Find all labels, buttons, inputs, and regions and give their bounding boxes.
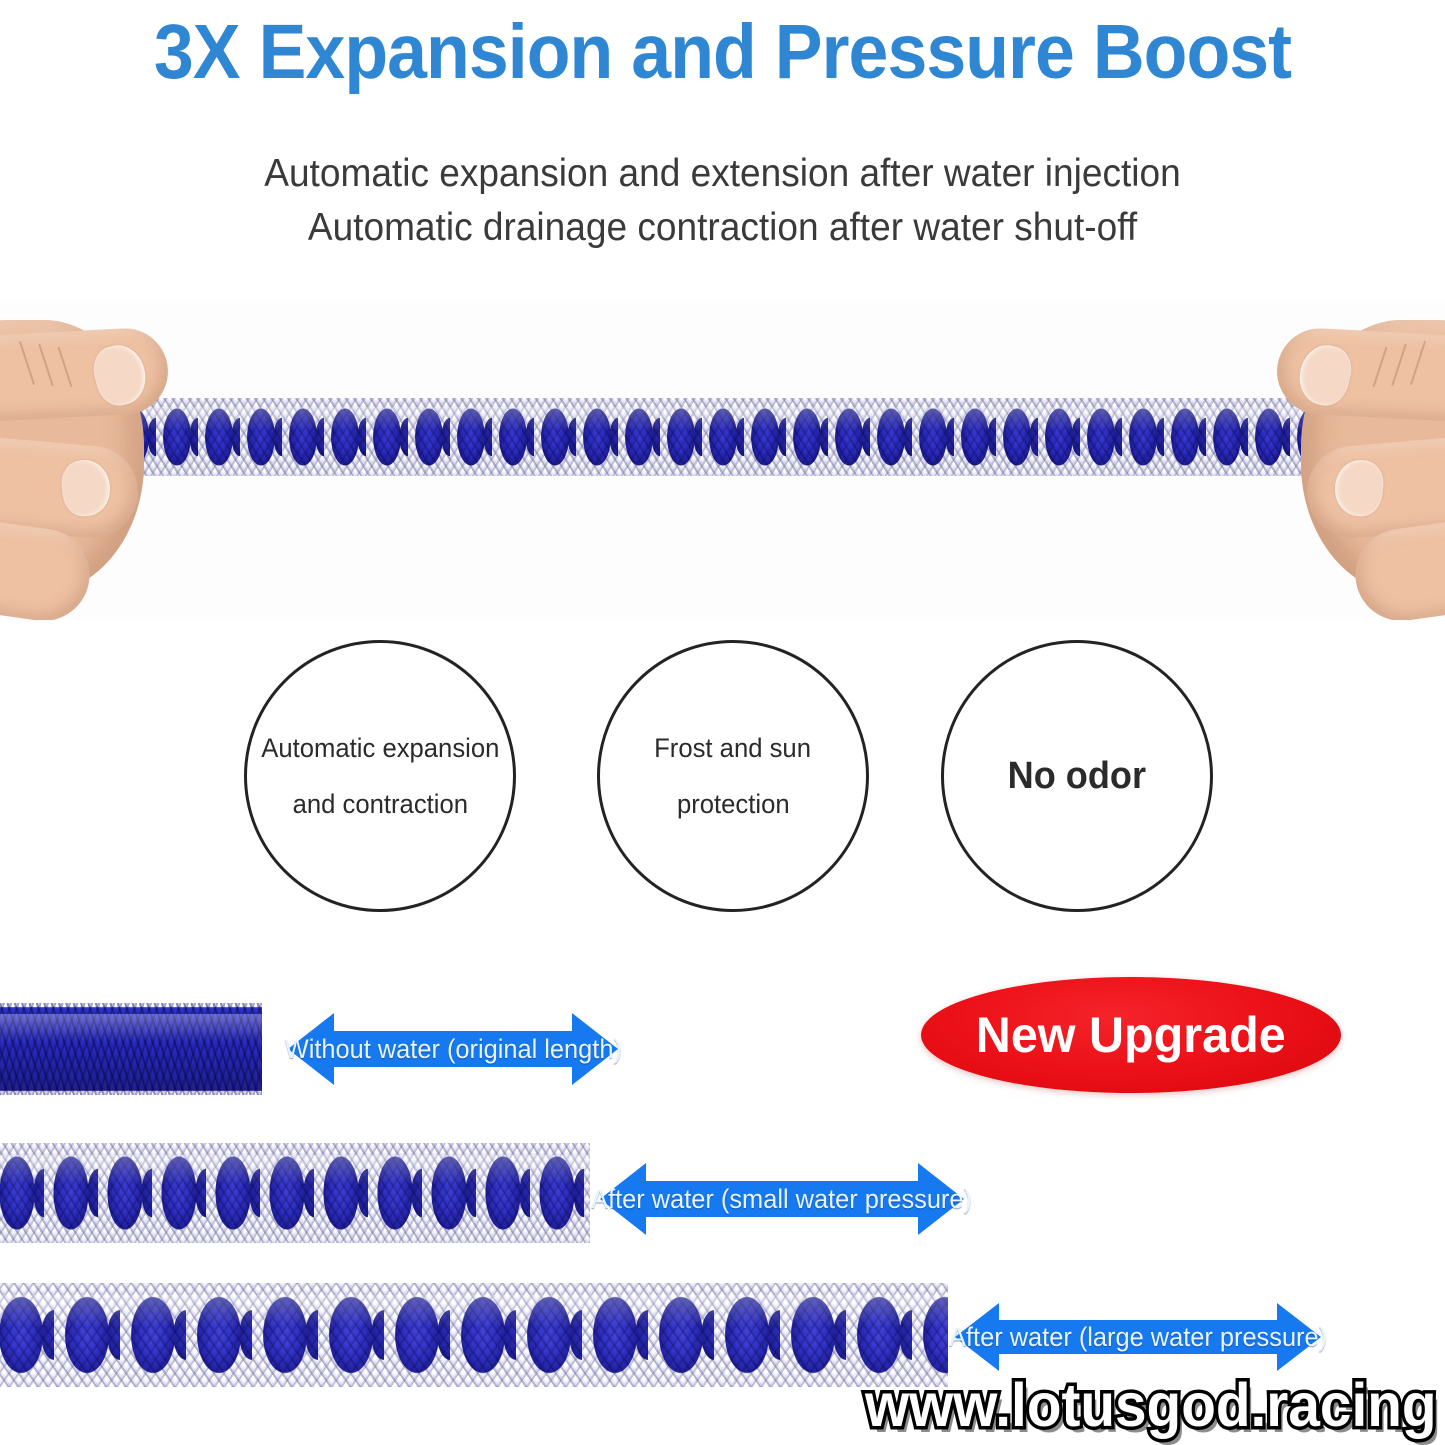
arrow-small-water-pressure-label: After water (small water pressure): [592, 1184, 973, 1215]
page-title: 3X Expansion and Pressure Boost: [51, 8, 1395, 96]
feature-circle-3-line-1: No odor: [1008, 748, 1146, 804]
hose-compressed: [0, 1003, 262, 1095]
subtitle-line-1: Automatic expansion and extension after …: [36, 152, 1409, 196]
right-hand: [1145, 314, 1445, 614]
hose-compressed-weave: [0, 1003, 262, 1095]
feature-circle-1-line-1: Automatic expansion: [261, 720, 499, 776]
hose-small-pressure: [0, 1143, 590, 1243]
arrow-large-water-pressure: After water (large water pressure): [955, 1295, 1321, 1379]
hose-large-pressure-weave: [0, 1283, 948, 1387]
subtitle-line-2: Automatic drainage contraction after wat…: [36, 206, 1409, 250]
arrow-without-water-label: Without water (original length): [284, 1034, 621, 1065]
arrow-without-water: Without water (original length): [288, 1005, 618, 1093]
hero-photo-hands-stretching-hose: [0, 300, 1445, 620]
arrow-large-water-pressure-label: After water (large water pressure): [949, 1322, 1327, 1353]
feature-circle-2-line-1: Frost and sun: [655, 720, 812, 776]
left-hand: [0, 314, 300, 614]
feature-circle-automatic-expansion: Automatic expansion and contraction: [244, 640, 516, 912]
product-infographic: 3X Expansion and Pressure Boost Automati…: [0, 0, 1445, 1445]
new-upgrade-badge: New Upgrade: [921, 977, 1341, 1093]
new-upgrade-label: New Upgrade: [976, 1006, 1286, 1064]
watermark-url: www.lotusgod.racing: [865, 1372, 1437, 1438]
hose-small-pressure-weave: [0, 1143, 590, 1243]
feature-circle-1-line-2: and contraction: [292, 776, 467, 832]
feature-circle-frost-sun-protection: Frost and sun protection: [597, 640, 869, 912]
feature-circle-no-odor: No odor: [941, 640, 1213, 912]
feature-circle-2-line-2: protection: [677, 776, 790, 832]
hose-large-pressure: [0, 1283, 948, 1387]
arrow-small-water-pressure: After water (small water pressure): [600, 1155, 964, 1243]
